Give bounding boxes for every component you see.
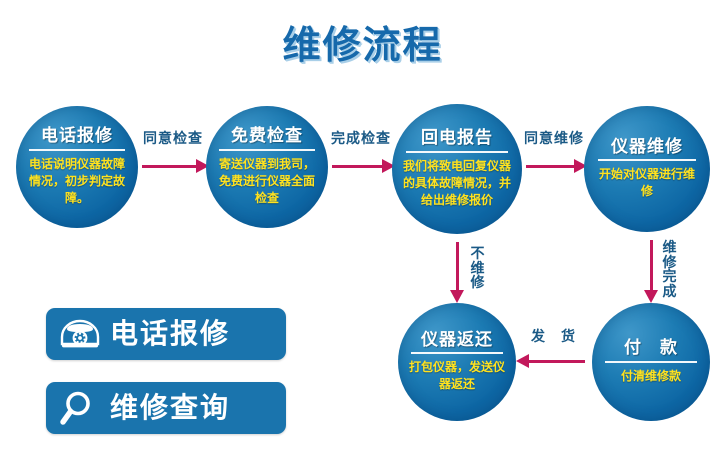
flowchart-canvas: 维修流程 同意检查 完成检查 同意维修 不维修 维修完成 发 货 电话报修 电话… [0,0,725,455]
node-divider [406,151,507,153]
flow-node-phone-report[interactable]: 电话报修 电话说明仪器故障情况，初步判定故障。 [16,106,138,228]
arrow-phone-to-free [142,165,198,168]
arrow-label-repair-done: 维修完成 [662,240,678,299]
node-title: 仪器维修 [607,138,687,156]
flow-node-free-inspection[interactable]: 免费检查 寄送仪器到我司，免费进行仪器全面检查 [206,106,328,228]
node-title: 免费检查 [227,127,307,145]
flow-node-callback-report[interactable]: 回电报告 我们将致电回复仪器的具体故障情况，并给出维修报价 [392,104,522,234]
arrow-free-to-callback [332,165,384,168]
node-title: 电话报修 [37,127,117,145]
arrow-label-no-repair: 不维修 [470,246,486,290]
node-divider [411,352,503,354]
repair-query-button[interactable]: 维修查询 [46,382,286,434]
node-title: 仪器返还 [417,331,497,349]
phone-report-button[interactable]: 电话报修 [46,308,286,360]
flow-node-payment[interactable]: 付 款 付清维修款 [592,303,710,421]
telephone-icon [58,314,102,354]
arrow-label-agree-repair: 同意维修 [524,128,584,148]
flow-node-instrument-return[interactable]: 仪器返还 打包仪器，发送仪器返还 [398,303,516,421]
node-divider [29,149,124,151]
flow-node-instrument-repair[interactable]: 仪器维修 开始对仪器进行维修 [584,106,710,232]
arrow-callback-to-repair [526,165,576,168]
arrow-payment-to-return [527,360,585,363]
arrow-callback-to-return [456,242,459,292]
page-title: 维修流程 [0,14,725,69]
node-body: 打包仪器，发送仪器返还 [407,359,506,393]
arrow-label-agree-inspect: 同意检查 [143,128,203,148]
node-body: 寄送仪器到我司，免费进行仪器全面检查 [216,156,318,207]
button-label: 维修查询 [110,394,230,422]
arrow-label-finish-inspect: 完成检查 [331,128,391,148]
node-divider [598,159,696,161]
node-divider [605,361,697,363]
node-body: 电话说明仪器故障情况，初步判定故障。 [26,156,128,207]
button-label: 电话报修 [110,320,230,348]
node-body: 我们将致电回复仪器的具体故障情况，并给出维修报价 [402,158,511,209]
node-title: 回电报告 [417,129,497,147]
search-icon [58,388,102,428]
arrow-label-ship: 发 货 [531,326,576,346]
node-body: 开始对仪器进行维修 [594,166,700,200]
arrow-repair-to-payment [650,240,653,292]
node-body: 付清维修款 [601,368,700,385]
node-divider [219,149,314,151]
node-title: 付 款 [620,339,682,357]
